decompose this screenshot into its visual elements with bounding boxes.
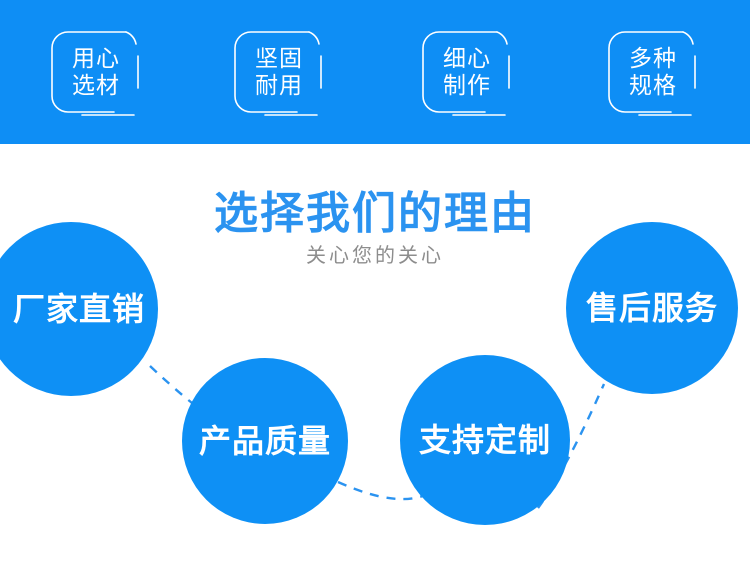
reason-circle-4-label: 售后服务 <box>586 290 718 326</box>
reason-circle-4[interactable]: 售后服务 <box>566 222 738 394</box>
reason-circle-3[interactable]: 支持定制 <box>400 355 570 525</box>
reason-circle-2-label: 产品质量 <box>199 423 331 459</box>
promo-banner-page: 用心 选材 坚固 耐用 细心 <box>0 0 750 562</box>
reason-circle-3-label: 支持定制 <box>419 422 551 458</box>
reason-circle-1-label: 厂家直销 <box>13 291 145 327</box>
reason-circle-2[interactable]: 产品质量 <box>182 358 348 524</box>
